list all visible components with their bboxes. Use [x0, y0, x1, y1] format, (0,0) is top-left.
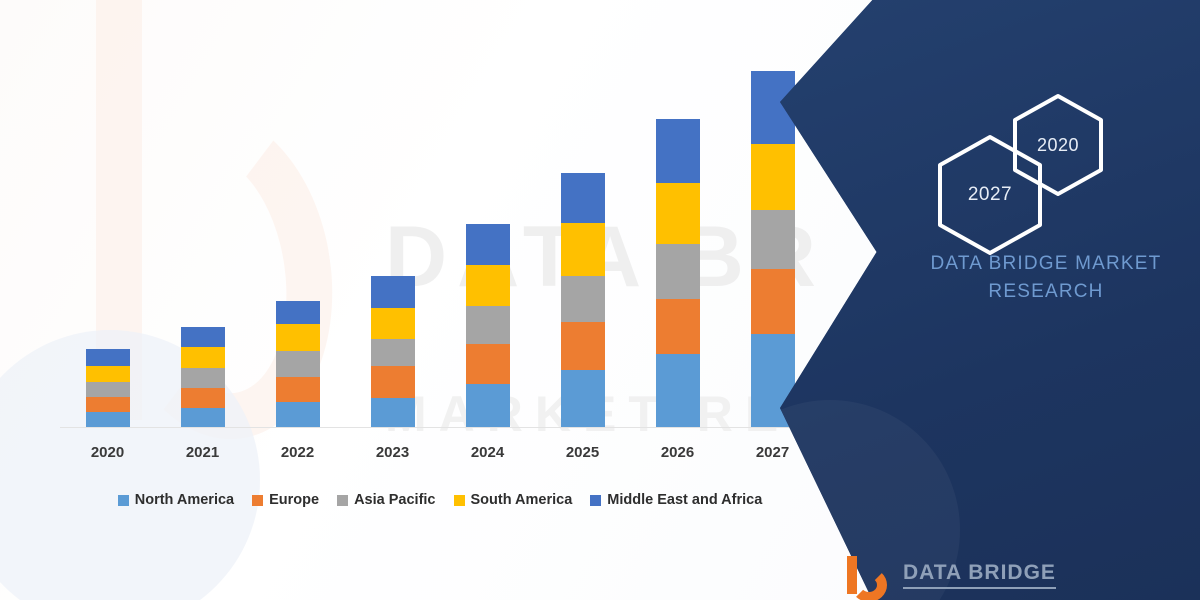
- footer-logo-text: DATA BRIDGE: [903, 561, 1056, 589]
- bar-segment[interactable]: [561, 173, 605, 223]
- bar-segment[interactable]: [371, 308, 415, 339]
- bar-column-2020: [64, 349, 152, 427]
- bar-segment[interactable]: [181, 347, 225, 367]
- bar-segment[interactable]: [86, 382, 130, 397]
- legend-item[interactable]: Middle East and Africa: [590, 492, 762, 508]
- bar-segment[interactable]: [86, 412, 130, 427]
- bar-segment[interactable]: [276, 351, 320, 376]
- bar-segment[interactable]: [371, 366, 415, 398]
- legend-swatch-icon: [252, 495, 263, 506]
- stacked-bar[interactable]: [371, 276, 415, 427]
- x-axis-label-2022: 2022: [254, 444, 342, 468]
- x-axis-label-2023: 2023: [349, 444, 437, 468]
- bar-segment[interactable]: [656, 354, 700, 427]
- bar-segment[interactable]: [181, 368, 225, 388]
- legend-label: North America: [135, 492, 234, 508]
- legend-label: Asia Pacific: [354, 492, 435, 508]
- x-axis-label-2026: 2026: [634, 444, 722, 468]
- hexagon-2020: 2020: [1010, 93, 1106, 197]
- legend-swatch-icon: [590, 495, 601, 506]
- bar-column-2025: [539, 173, 627, 427]
- hexagon-2020-label: 2020: [1010, 93, 1106, 197]
- brand-name-line-1: DATA BRIDGE MARKET: [892, 250, 1200, 278]
- bar-segment[interactable]: [656, 244, 700, 298]
- bar-segment[interactable]: [181, 327, 225, 347]
- bar-column-2021: [159, 327, 247, 427]
- bar-segment[interactable]: [371, 276, 415, 308]
- x-axis-label-2024: 2024: [444, 444, 532, 468]
- bar-segment[interactable]: [466, 265, 510, 306]
- bar-segment[interactable]: [561, 322, 605, 369]
- chart-panel: DATA BR MARKET RESEARCH 2020202120222023…: [0, 0, 900, 600]
- footer-logo: DATA BRIDGE: [845, 556, 1056, 594]
- bar-segment[interactable]: [466, 384, 510, 427]
- stacked-bar[interactable]: [181, 327, 225, 427]
- legend-item[interactable]: Europe: [252, 492, 319, 508]
- bar-segment[interactable]: [371, 339, 415, 365]
- bar-segment[interactable]: [656, 299, 700, 354]
- bar-segment[interactable]: [561, 370, 605, 427]
- x-axis-label-2025: 2025: [539, 444, 627, 468]
- bar-segment[interactable]: [656, 119, 700, 183]
- bar-segment[interactable]: [561, 276, 605, 322]
- x-axis-label-2020: 2020: [64, 444, 152, 468]
- bar-segment[interactable]: [751, 210, 795, 268]
- bar-column-2026: [634, 119, 722, 427]
- stacked-bar[interactable]: [466, 224, 510, 427]
- legend-label: Europe: [269, 492, 319, 508]
- bar-segment[interactable]: [276, 402, 320, 427]
- bar-segment[interactable]: [181, 408, 225, 427]
- bar-segment[interactable]: [181, 388, 225, 408]
- bar-series-container: [60, 47, 820, 427]
- bar-segment[interactable]: [751, 144, 795, 211]
- bar-segment[interactable]: [276, 377, 320, 402]
- legend-swatch-icon: [337, 495, 348, 506]
- legend-item[interactable]: South America: [454, 492, 573, 508]
- bar-segment[interactable]: [466, 306, 510, 344]
- legend-swatch-icon: [454, 495, 465, 506]
- brand-name-line-2: RESEARCH: [892, 278, 1200, 306]
- bar-segment[interactable]: [751, 269, 795, 335]
- bar-segment[interactable]: [86, 397, 130, 412]
- bar-segment[interactable]: [276, 324, 320, 351]
- bar-segment[interactable]: [656, 183, 700, 245]
- stacked-bar[interactable]: [656, 119, 700, 427]
- stacked-bar[interactable]: [561, 173, 605, 427]
- stacked-bar-chart: 20202021202220232024202520262027 North A…: [40, 40, 830, 500]
- stacked-bar[interactable]: [276, 301, 320, 427]
- bar-segment[interactable]: [86, 366, 130, 382]
- x-axis-tick-labels: 20202021202220232024202520262027: [60, 444, 820, 468]
- infographic-canvas: DATA BR MARKET RESEARCH 2020202120222023…: [0, 0, 1200, 600]
- chart-legend: North AmericaEuropeAsia PacificSouth Ame…: [60, 492, 820, 508]
- bar-segment[interactable]: [466, 344, 510, 383]
- x-axis-label-2021: 2021: [159, 444, 247, 468]
- plot-area: 20202021202220232024202520262027 North A…: [60, 40, 820, 490]
- bar-column-2023: [349, 276, 437, 427]
- legend-item[interactable]: North America: [118, 492, 234, 508]
- bar-segment[interactable]: [86, 349, 130, 365]
- brand-name: DATA BRIDGE MARKET RESEARCH: [892, 250, 1200, 306]
- legend-label: Middle East and Africa: [607, 492, 762, 508]
- bar-segment[interactable]: [276, 301, 320, 324]
- legend-swatch-icon: [118, 495, 129, 506]
- stacked-bar[interactable]: [751, 71, 795, 427]
- bar-segment[interactable]: [371, 398, 415, 427]
- bar-segment[interactable]: [561, 223, 605, 275]
- data-bridge-b-icon: [845, 556, 891, 594]
- x-axis-line: [60, 427, 820, 428]
- bar-column-2024: [444, 224, 532, 427]
- bar-column-2022: [254, 301, 342, 427]
- legend-item[interactable]: Asia Pacific: [337, 492, 435, 508]
- legend-label: South America: [471, 492, 573, 508]
- bar-segment[interactable]: [466, 224, 510, 264]
- stacked-bar[interactable]: [86, 349, 130, 427]
